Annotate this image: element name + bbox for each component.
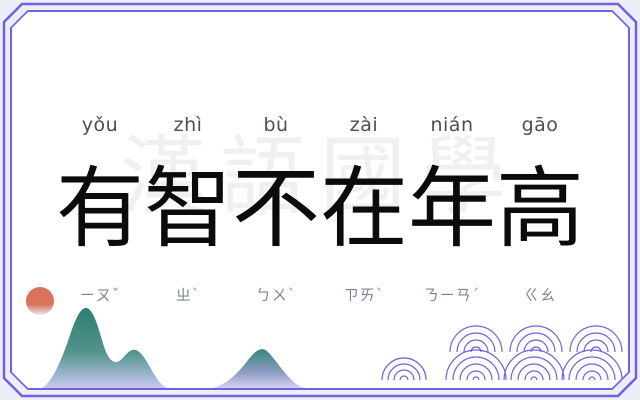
pinyin-row: yǒu zhì bù zài nián gāo (12, 108, 628, 142)
hanzi-row: 有 智 不 在 年 高 (12, 154, 628, 264)
wave-arc-front-3 (562, 350, 622, 380)
idiom-card: 漢語國學 yǒu zhì bù zài nián gāo 有 智 不 在 年 高… (0, 0, 640, 400)
wave-decoration (368, 308, 628, 388)
pinyin-2: zhì (144, 108, 232, 142)
zhuyin-6: ㄍㄠ (496, 278, 584, 312)
hanzi-1: 有 (56, 154, 144, 264)
pinyin-1: yǒu (56, 108, 144, 142)
hanzi-3: 不 (232, 154, 320, 264)
zhuyin-row: ㄧㄡˇ ㄓˋ ㄅㄨˋ ㄗㄞˋ ㄋㄧㄢˊ ㄍㄠ (12, 278, 628, 312)
pinyin-6: gāo (496, 108, 584, 142)
wave-arc-front-2 (504, 350, 564, 380)
wave-arc-front-0 (382, 358, 426, 380)
hanzi-2: 智 (144, 154, 232, 264)
wave-arc-back-3 (570, 326, 622, 352)
hanzi-5: 年 (408, 154, 496, 264)
wave-arc-back-1 (450, 326, 502, 352)
zhuyin-5: ㄋㄧㄢˊ (408, 278, 496, 312)
mountain-small (212, 349, 312, 388)
wave-arc-front-1 (446, 350, 506, 380)
zhuyin-1: ㄧㄡˇ (56, 278, 144, 312)
pinyin-3: bù (232, 108, 320, 142)
mountain-large (42, 308, 170, 388)
zhuyin-4: ㄗㄞˋ (320, 278, 408, 312)
zhuyin-3: ㄅㄨˋ (232, 278, 320, 312)
hanzi-4: 在 (320, 154, 408, 264)
wave-arc-back-2 (510, 326, 562, 352)
zhuyin-2: ㄓˋ (144, 278, 232, 312)
pinyin-5: nián (408, 108, 496, 142)
card-canvas: 漢語國學 yǒu zhì bù zài nián gāo 有 智 不 在 年 高… (12, 12, 628, 388)
pinyin-4: zài (320, 108, 408, 142)
hanzi-6: 高 (496, 154, 584, 264)
